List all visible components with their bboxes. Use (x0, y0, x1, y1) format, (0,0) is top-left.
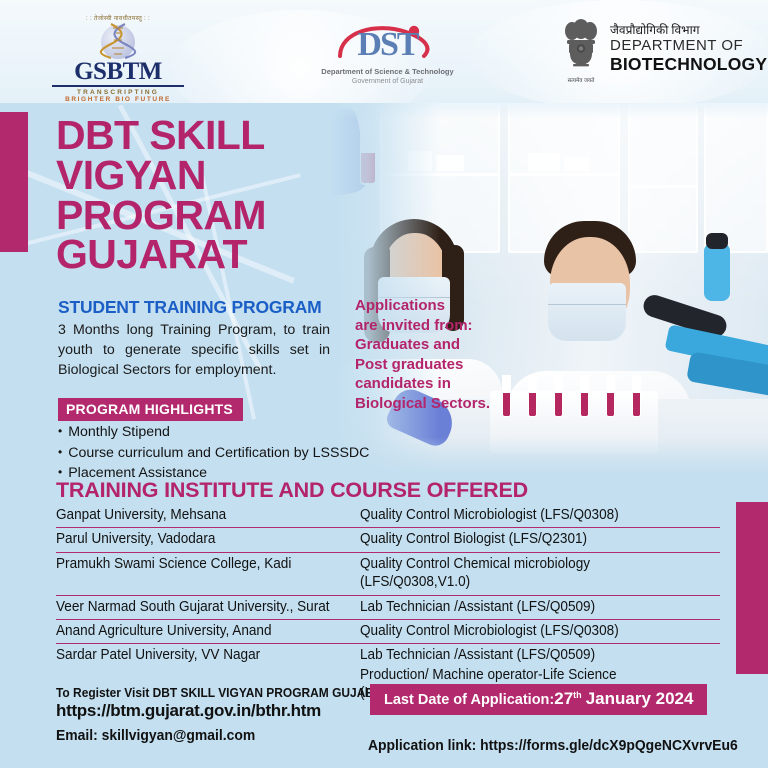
application-link[interactable]: Application link: https://forms.gle/dcX9… (368, 738, 738, 754)
decorative-bar-right (736, 502, 768, 674)
cabinet-shelf (630, 185, 696, 188)
microscope-eyepiece (706, 233, 728, 249)
applications-callout: Applications are invited from: Graduates… (355, 296, 570, 413)
course-line: Lab Technician /Assistant (LFS/Q0509) (360, 598, 695, 616)
applications-line-1: Applications (355, 296, 570, 316)
applications-line-6: Biological Sectors. (355, 394, 570, 414)
footer-left: To Register Visit DBT SKILL VIGYAN PROGR… (56, 686, 386, 744)
applications-line-5: candidates in (355, 374, 570, 394)
decorative-bar-left (0, 112, 28, 252)
table-row: Anand Agriculture University, Anand Qual… (56, 620, 720, 644)
dbt-hindi-title: जैवप्रौद्योगिकी विभाग (610, 24, 767, 37)
gsbtm-logo: : : तेजोस्वी नावधीतमस्तु : : GSBTM (48, 14, 188, 103)
rack-tube (580, 375, 589, 417)
lab-cabinet (704, 103, 768, 253)
ashoka-emblem-icon: सत्यमेव जयते (560, 18, 602, 80)
table-row: Pramukh Swami Science College, Kadi Qual… (56, 553, 720, 596)
list-item: Course curriculum and Certification by L… (58, 443, 478, 464)
header-logo-band: : : तेजोस्वी नावधीतमस्तु : : GSBTM (0, 0, 768, 103)
course-line: Quality Control Microbiologist (LFS/Q030… (360, 506, 695, 524)
course-cell: Quality Control Microbiologist (LFS/Q030… (360, 506, 695, 524)
dst-logo: DST Department of Science & Technology G… (300, 22, 475, 85)
training-institute-table: Ganpat University, Mehsana Quality Contr… (56, 504, 720, 705)
student-training-heading: STUDENT TRAINING PROGRAM (58, 297, 322, 318)
course-line: Lab Technician /Assistant (LFS/Q0509) (360, 646, 695, 664)
list-item: Monthly Stipend (58, 422, 478, 443)
rack-tube (632, 375, 641, 417)
last-date-day: 27 (554, 689, 573, 708)
gsbtm-sanskrit-motto: : : तेजोस्वी नावधीतमस्तु : : (48, 14, 188, 22)
program-highlights-badge: PROGRAM HIGHLIGHTS (58, 398, 243, 421)
register-url[interactable]: https://btm.gujarat.gov.in/bthr.htm (56, 701, 386, 721)
dbt-logo: सत्यमेव जयते जैवप्रौद्योगिकी विभाग DEPAR… (560, 18, 760, 80)
dst-wordmark: DST (357, 28, 417, 62)
course-cell: Quality Control Microbiologist (LFS/Q030… (360, 622, 695, 640)
institute-cell: Parul University, Vadodara (56, 530, 339, 548)
last-date-suffix: th (573, 690, 582, 700)
laboratory-photo (330, 103, 768, 475)
cabinet-shelf (510, 173, 618, 176)
dbt-text-block: जैवप्रौद्योगिकी विभाग DEPARTMENT OF BIOT… (610, 24, 767, 74)
applications-line-2: are invited from: (355, 316, 570, 336)
course-line: Quality Control Chemical microbiology (L… (360, 555, 695, 592)
last-date-badge: Last Date of Application:27th January 20… (370, 684, 707, 715)
institute-cell: Anand Agriculture University, Anand (56, 622, 339, 640)
institute-cell: Veer Narmad South Gujarat University., S… (56, 598, 339, 616)
gsbtm-tagline-2: BRIGHTER BIO FUTURE (48, 96, 188, 103)
institute-cell: Ganpat University, Mehsana (56, 506, 339, 524)
gsbtm-wordmark: GSBTM (48, 59, 188, 84)
dst-subtitle-department: Department of Science & Technology (300, 67, 475, 76)
program-highlights-list: Monthly Stipend Course curriculum and Ce… (58, 422, 478, 484)
lion-capital-icon (560, 18, 602, 70)
applications-line-4: Post graduates (355, 355, 570, 375)
dbt-english-line-2: BIOTECHNOLOGY (610, 55, 767, 74)
email-line[interactable]: Email: skillvigyan@gmail.com (56, 728, 373, 744)
gsbtm-divider (52, 85, 184, 87)
course-line: Quality Control Microbiologist (LFS/Q030… (360, 622, 695, 640)
title-line-1: DBT SKILL (56, 116, 386, 156)
title-line-4: GUJARAT (56, 235, 386, 275)
rack-tube (606, 375, 615, 417)
vial-box (564, 157, 590, 171)
vial-box (528, 153, 560, 171)
emblem-motto: सत्यमेव जयते (560, 76, 602, 84)
table-row: Veer Narmad South Gujarat University., S… (56, 596, 720, 620)
dna-helix-icon (48, 23, 188, 59)
page-title: DBT SKILL VIGYAN PROGRAM GUJARAT (56, 116, 386, 275)
table-row: Parul University, Vadodara Quality Contr… (56, 528, 720, 552)
dna-strands-icon (98, 23, 138, 59)
dst-mark: DST (300, 22, 475, 66)
course-cell: Lab Technician /Assistant (LFS/Q0509) (360, 598, 695, 616)
vial-box (436, 155, 464, 171)
dbt-english-line-1: DEPARTMENT OF (610, 37, 767, 54)
table-heading: TRAINING INSTITUTE AND COURSE OFFERED (56, 478, 528, 503)
title-line-3: PROGRAM (56, 196, 386, 236)
register-label: To Register Visit DBT SKILL VIGYAN PROGR… (56, 686, 370, 700)
applications-line-3: Graduates and (355, 335, 570, 355)
course-cell: Quality Control Biologist (LFS/Q2301) (360, 530, 695, 548)
gsbtm-tagline-1: TRANSCRIPTING (48, 89, 188, 96)
microscope (660, 243, 768, 393)
institute-cell: Pramukh Swami Science College, Kadi (56, 555, 339, 573)
dst-subtitle-government: Government of Gujarat (300, 78, 475, 85)
title-line-2: VIGYAN (56, 156, 386, 196)
course-line: Quality Control Biologist (LFS/Q2301) (360, 530, 695, 548)
table-row: Ganpat University, Mehsana Quality Contr… (56, 504, 720, 528)
program-description: 3 Months long Training Program, to train… (58, 320, 330, 380)
course-cell: Quality Control Chemical microbiology (L… (360, 555, 695, 592)
poster-canvas: : : तेजोस्वी नावधीतमस्तु : : GSBTM (0, 0, 768, 768)
institute-cell: Sardar Patel University, VV Nagar (56, 646, 339, 664)
microscope-body (704, 243, 730, 301)
last-date-label: Last Date of Application: (384, 692, 554, 708)
last-date-rest: January 2024 (586, 689, 694, 708)
